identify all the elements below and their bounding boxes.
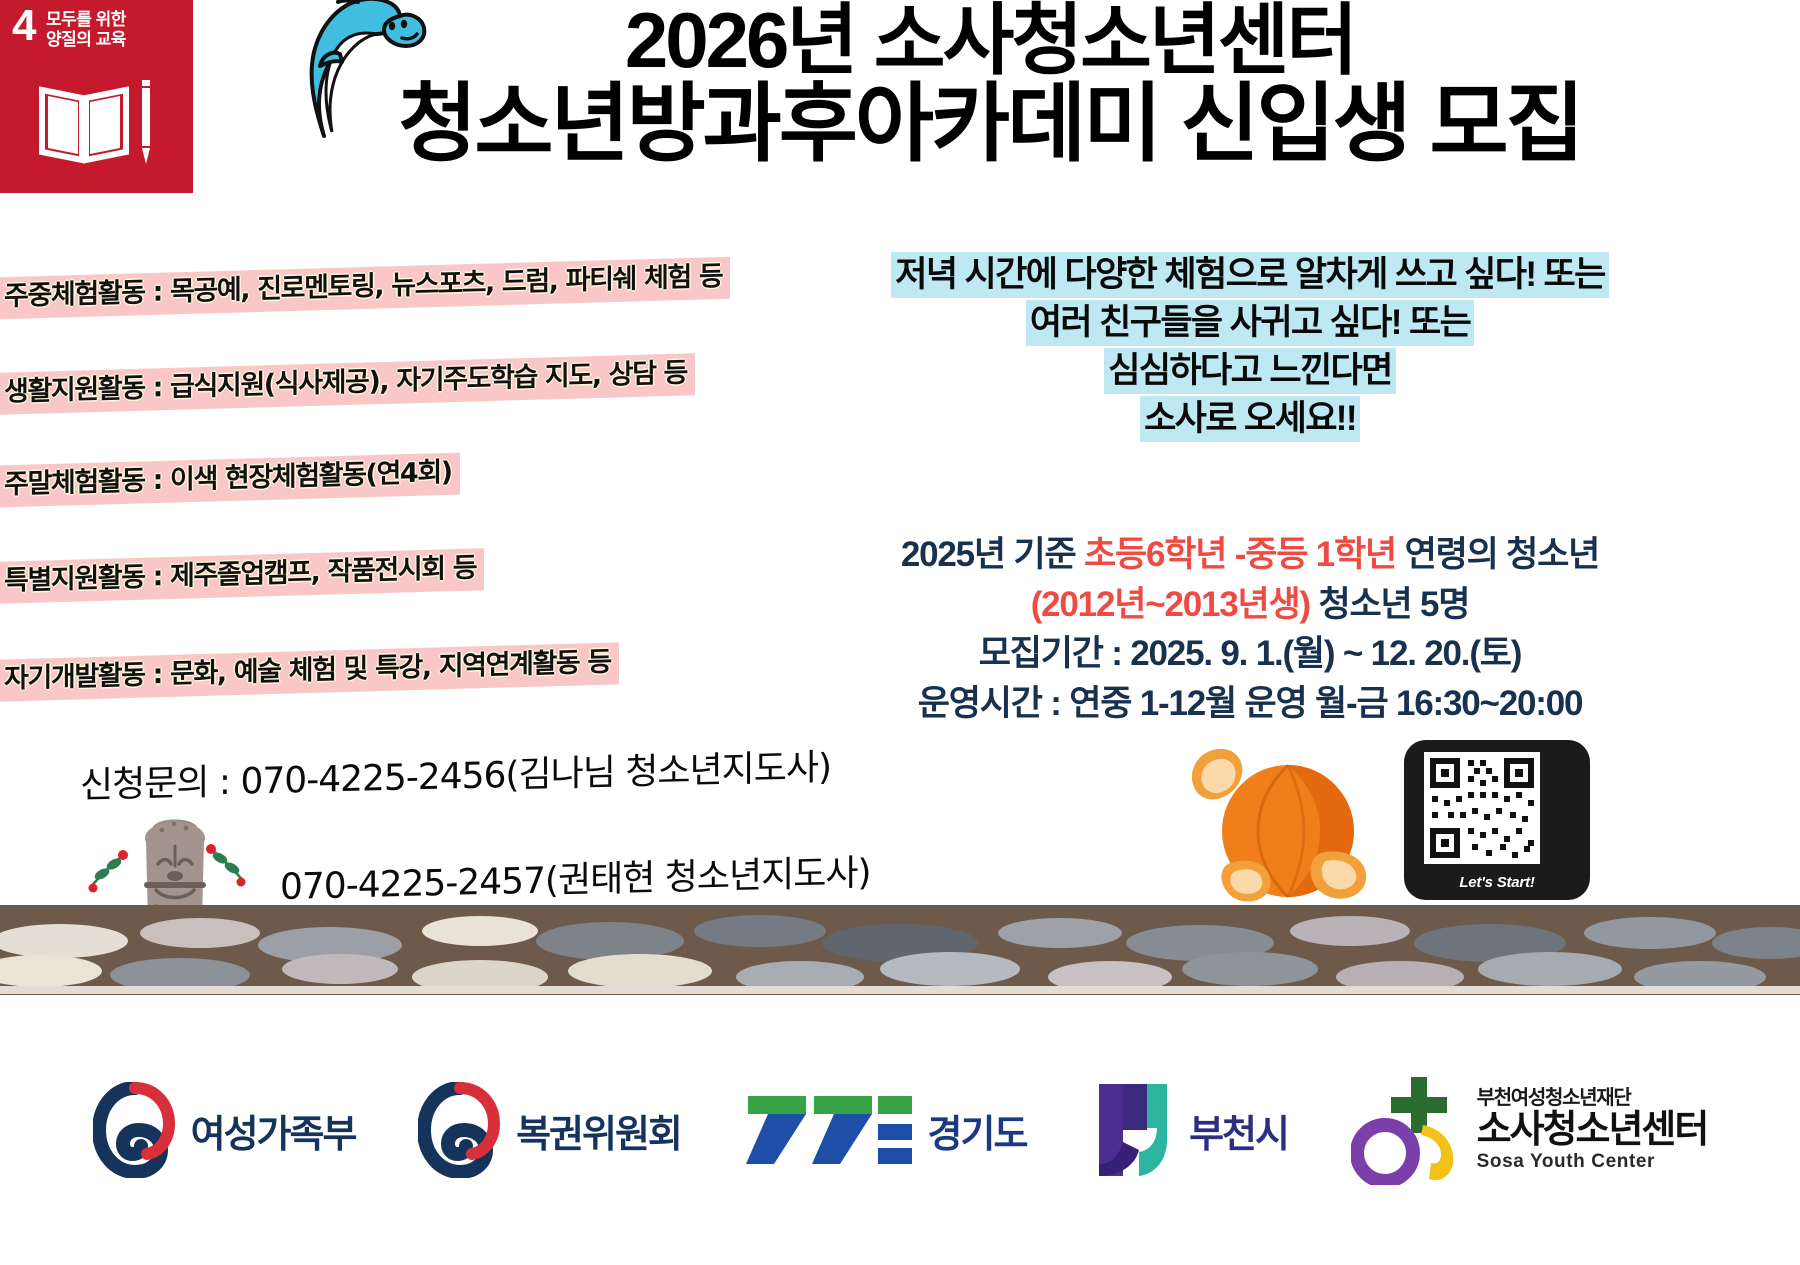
berry-branch-icon [206, 842, 248, 888]
list-item: 생활지원활동 : 급식지원(식사제공), 자기주도학습 지도, 상담 등 [0, 336, 700, 432]
sdg-goal-number: 4 [12, 4, 36, 48]
sdg-goal-4-badge: 4 모두를 위한 양질의 교육 [0, 0, 193, 193]
detail-line-period: 모집기간 : 2025. 9. 1.(월) ~ 12. 20.(토) [700, 629, 1800, 679]
logo-sosa-youth-center: 부천여성청소년재단 소사청소년센터 Sosa Youth Center [1351, 1075, 1708, 1185]
list-item: 자기개발활동 : 문화, 예술 체험 및 특강, 지역연계활동 등 [0, 624, 700, 720]
detail-plain-text: 모집기간 : 2025. 9. 1.(월) ~ 12. 20.(토) [979, 634, 1521, 673]
detail-plain-text: 청소년 5명 [1310, 585, 1469, 624]
sosa-center-name: 소사청소년센터 [1477, 1111, 1708, 1151]
title-line-2: 청소년방과후아카데미 신입생 모집 [190, 82, 1790, 166]
qr-code-label: Let's Start! [1404, 874, 1590, 891]
logo-label: 여성가족부 [191, 1103, 356, 1158]
qr-code-card[interactable]: Let's Start! [1404, 740, 1590, 900]
gyeonggi-do-logo-icon [744, 1090, 914, 1170]
hook-message-block: 저녁 시간에 다양한 체험으로 알차게 쓰고 싶다! 또는 여러 친구들을 사귀… [700, 252, 1800, 444]
sosa-center-english: Sosa Youth Center [1477, 1152, 1708, 1172]
activity-text: 자기개발활동 : 문화, 예술 체험 및 특강, 지역연계활동 등 [0, 642, 619, 702]
footer-logo-bar: 여성가족부 복권위원회 경기도 [0, 995, 1800, 1265]
poster-title: 2026년 소사청소년센터 청소년방과후아카데미 신입생 모집 [190, 2, 1790, 167]
hook-line: 심심하다고 느낀다면 [700, 348, 1800, 394]
recruitment-details: 2025년 기준 초등6학년 -중등 1학년 연령의 청소년 (2012년~20… [700, 530, 1800, 729]
list-item: 특별지원활동 : 제주졸업캠프, 작품전시회 등 [0, 528, 700, 624]
detail-line-hours: 운영시간 : 연중 1-12월 운영 월-금 16:30~20:00 [700, 679, 1800, 729]
list-item: 주중체험활동 : 목공예, 진로멘토링, 뉴스포츠, 드럼, 파티쉐 체험 등 [0, 240, 700, 336]
hook-line: 저녁 시간에 다양한 체험으로 알차게 쓰고 싶다! 또는 [700, 252, 1800, 298]
sosa-foundation-name: 부천여성청소년재단 [1477, 1088, 1708, 1109]
sdg-goal-label: 모두를 위한 양질의 교육 [46, 10, 126, 50]
contact-line-1: 신청문의 : 070-4225-2456(김나님 청소년지도사) [80, 743, 1100, 806]
tangerine-fruit-icon [1170, 735, 1380, 915]
detail-line-eligibility: 2025년 기준 초등6학년 -중등 1학년 연령의 청소년 [700, 530, 1800, 580]
stone-path-decoration [0, 905, 1800, 995]
contact-line-2: 070-4225-2457(권태현 청소년지도사) [280, 849, 1100, 907]
logo-label: 경기도 [928, 1103, 1027, 1158]
hook-line: 여러 친구들을 사귀고 싶다! 또는 [700, 300, 1800, 346]
hook-text: 소사로 오세요!! [1140, 396, 1360, 442]
bucheon-city-logo-icon [1089, 1080, 1175, 1180]
qr-code-icon[interactable] [1424, 752, 1540, 864]
logo-bucheon-si: 부천시 [1089, 1080, 1288, 1180]
activity-text: 주말체험활동 : 이색 현장체험활동(연4회) [0, 452, 460, 507]
activity-text: 특별지원활동 : 제주졸업캠프, 작품전시회 등 [0, 548, 484, 604]
detail-plain-text: 2025년 기준 [901, 535, 1084, 574]
hook-text: 여러 친구들을 사귀고 싶다! 또는 [1026, 300, 1474, 346]
logo-gyeonggi-do: 경기도 [744, 1090, 1027, 1170]
activity-list: 주중체험활동 : 목공예, 진로멘토링, 뉴스포츠, 드럼, 파티쉐 체험 등 … [0, 240, 700, 720]
logo-label: 복권위원회 [516, 1103, 681, 1158]
title-line-1: 2026년 소사청소년센터 [190, 2, 1790, 78]
detail-plain-text: 연령의 청소년 [1396, 535, 1599, 574]
activity-text: 주중체험활동 : 목공예, 진로멘토링, 뉴스포츠, 드럼, 파티쉐 체험 등 [0, 257, 730, 320]
detail-accent-text: 초등6학년 -중등 1학년 [1084, 535, 1396, 574]
logo-bokgwon-wiwonhoe: 복권위원회 [418, 1082, 681, 1178]
hook-text: 심심하다고 느낀다면 [1104, 348, 1396, 394]
activity-text: 생활지원활동 : 급식지원(식사제공), 자기주도학습 지도, 상담 등 [0, 353, 695, 415]
berry-branch-icon [86, 848, 128, 894]
sosa-center-text: 부천여성청소년재단 소사청소년센터 Sosa Youth Center [1477, 1088, 1708, 1173]
hook-line: 소사로 오세요!! [700, 396, 1800, 442]
poster-root: 4 모두를 위한 양질의 교육 2026년 소사청소년센터 청소년방과후아카데미… [0, 0, 1800, 1265]
open-book-pencil-icon [34, 72, 164, 172]
detail-line-birth-years: (2012년~2013년생) 청소년 5명 [700, 580, 1800, 630]
detail-accent-text: (2012년~2013년생) [1031, 585, 1310, 624]
detail-plain-text: 운영시간 : 연중 1-12월 운영 월-금 16:30~20:00 [918, 684, 1583, 723]
korea-government-taegeuk-icon [93, 1082, 177, 1178]
logo-label: 부천시 [1189, 1103, 1288, 1158]
stone-path-svg [0, 905, 1800, 995]
list-item: 주말체험활동 : 이색 현장체험활동(연4회) [0, 432, 700, 528]
sosa-youth-center-logo-icon [1351, 1075, 1463, 1185]
hook-text: 저녁 시간에 다양한 체험으로 알차게 쓰고 싶다! 또는 [891, 252, 1609, 298]
logo-yeoseong-gajokbu: 여성가족부 [93, 1082, 356, 1178]
korea-government-taegeuk-icon [418, 1082, 502, 1178]
stone-path-edge [0, 986, 1800, 994]
